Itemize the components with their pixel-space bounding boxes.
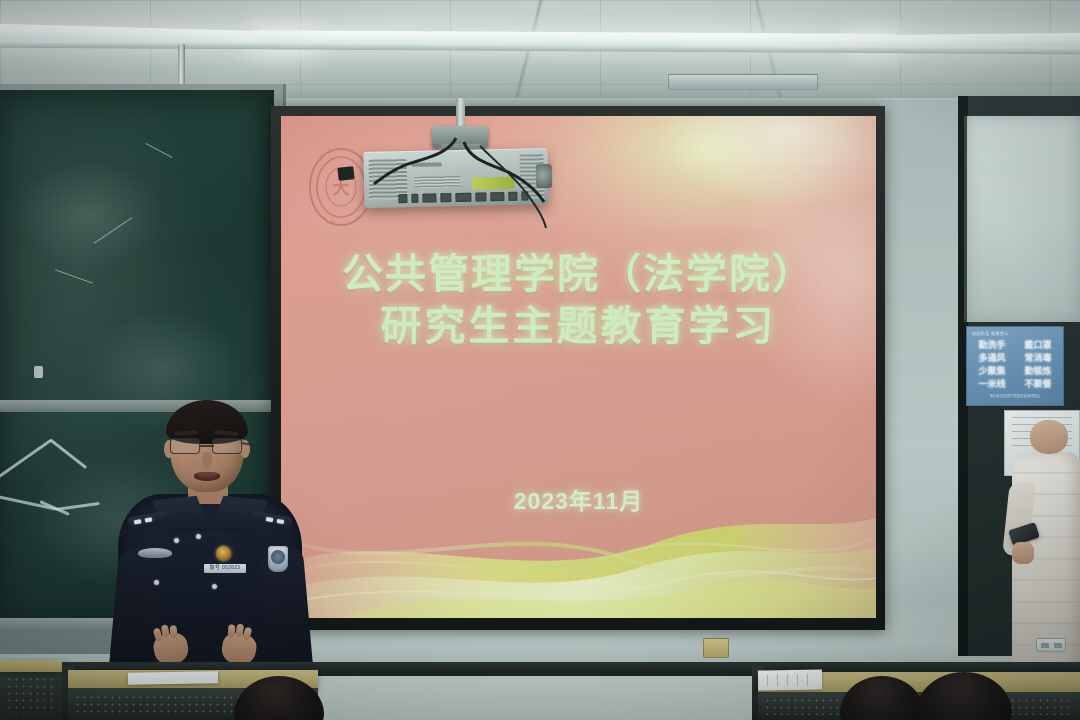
open-notebook	[758, 669, 822, 690]
uniform-chest-wing-badge	[138, 548, 172, 558]
poster-header: 校园防疫 健康提示	[972, 331, 1058, 337]
papers-on-desk	[128, 671, 218, 685]
poster-footer: 请大家自觉遵守校园防疫管理规定	[972, 393, 1058, 398]
podium-top-left	[0, 660, 62, 672]
poster-cell: 勤锻炼	[1018, 366, 1058, 377]
cable-connector	[337, 166, 354, 181]
speaker-police-officer: 警号 052823	[112, 398, 308, 680]
svg-text:L: L	[340, 146, 343, 152]
poster-cell: 少聚集	[972, 366, 1012, 377]
ceiling-vent	[668, 74, 818, 90]
attendee-head	[1030, 420, 1068, 454]
poster-cell: 戴口罩	[1018, 340, 1058, 351]
police-shoulder-patch-icon	[268, 546, 288, 572]
projector-grille	[414, 176, 460, 188]
projector-label-sticker	[472, 177, 514, 190]
poster-cell: 常消毒	[1018, 353, 1058, 364]
projector-port-row	[398, 190, 528, 204]
officer-mouth-speaking	[194, 472, 220, 481]
svg-text:大: 大	[333, 178, 350, 199]
wall-socket-icon	[703, 638, 729, 658]
projection-screen-frame: 大 D A L I A U N I V E	[271, 106, 885, 630]
poster-cell: 多通风	[972, 353, 1012, 364]
projector-lens	[536, 164, 552, 188]
officer-nameplate: 警号 052823	[204, 564, 246, 573]
podium-left-panel	[0, 664, 62, 720]
poster-cell: 一米线	[972, 379, 1012, 390]
svg-text:N: N	[329, 220, 335, 227]
slide-title: 公共管理学院（法学院） 研究生主题教育学习	[281, 248, 876, 352]
poster-cell: 不聚餐	[1018, 379, 1058, 390]
svg-text:I: I	[340, 222, 341, 228]
projector-brand-mark	[412, 162, 442, 167]
ceiling-projector	[363, 148, 548, 208]
attendee-hand	[1012, 542, 1034, 564]
poster-text-grid: 勤洗手 戴口罩 多通风 常消毒 少聚集 勤锻炼 一米线 不聚餐	[972, 340, 1058, 390]
poster-cell: 勤洗手	[972, 340, 1012, 351]
wall-socket-icon	[1036, 638, 1066, 652]
slide-title-line-1: 公共管理学院（法学院）	[281, 248, 876, 300]
slide-ribbon-graphic	[281, 468, 876, 618]
officer-nose	[202, 452, 212, 468]
chalk-piece	[34, 366, 43, 378]
slide-title-line-2: 研究生主题教育学习	[281, 300, 876, 352]
wall-poster: 校园防疫 健康提示 勤洗手 戴口罩 多通风 常消毒 少聚集 勤锻炼 一米线 不聚…	[966, 326, 1064, 406]
whiteboard	[964, 116, 1080, 322]
classroom-photo: 校园防疫 健康提示 勤洗手 戴口罩 多通风 常消毒 少聚集 勤锻炼 一米线 不聚…	[0, 0, 1080, 720]
party-emblem-badge-icon	[216, 546, 231, 561]
